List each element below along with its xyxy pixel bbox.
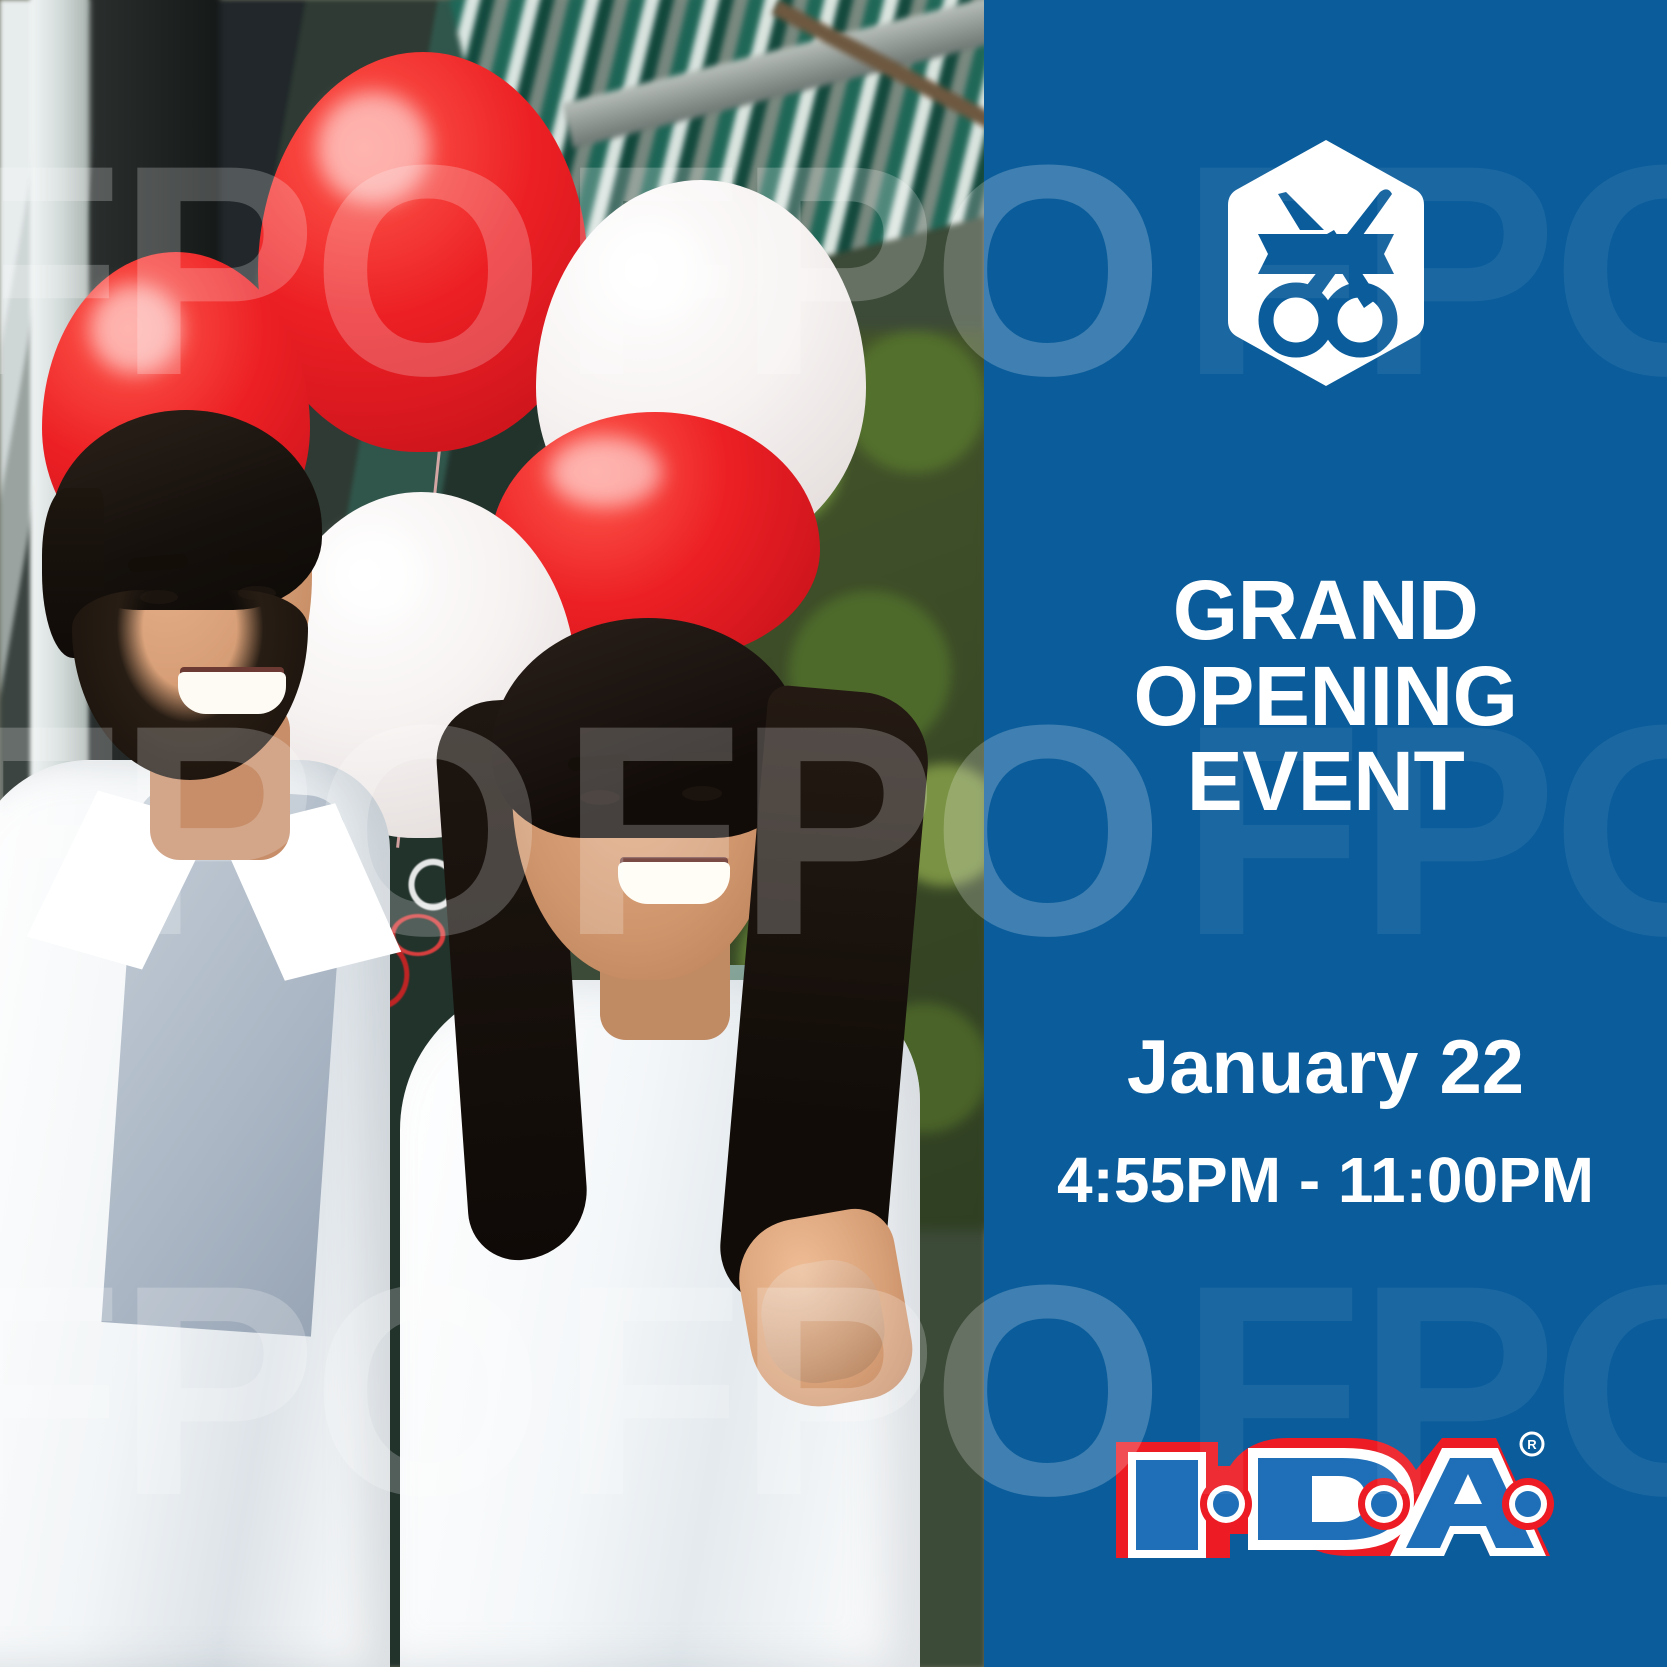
headline: GRAND OPENING EVENT bbox=[984, 568, 1667, 825]
eye bbox=[682, 786, 722, 801]
event-time: 4:55PM - 11:00PM bbox=[984, 1148, 1667, 1212]
smile bbox=[178, 672, 286, 714]
eyebrow bbox=[672, 751, 734, 766]
smile bbox=[618, 862, 730, 904]
headline-line-1: GRAND bbox=[984, 568, 1667, 654]
poster-canvas: GRAND OPENING EVENT January 22 4:55PM - … bbox=[0, 0, 1667, 1667]
ida-logo: R bbox=[1098, 1408, 1554, 1588]
info-panel: GRAND OPENING EVENT January 22 4:55PM - … bbox=[984, 0, 1667, 1667]
eye bbox=[580, 790, 620, 805]
ribbon-cutting-scissors-hexagon-icon bbox=[1228, 138, 1424, 388]
headline-line-3: EVENT bbox=[984, 739, 1667, 825]
svg-text:R: R bbox=[1527, 1437, 1537, 1452]
headline-line-2: OPENING bbox=[984, 654, 1667, 740]
event-date: January 22 bbox=[984, 1030, 1667, 1106]
hero-photo bbox=[0, 0, 984, 1667]
